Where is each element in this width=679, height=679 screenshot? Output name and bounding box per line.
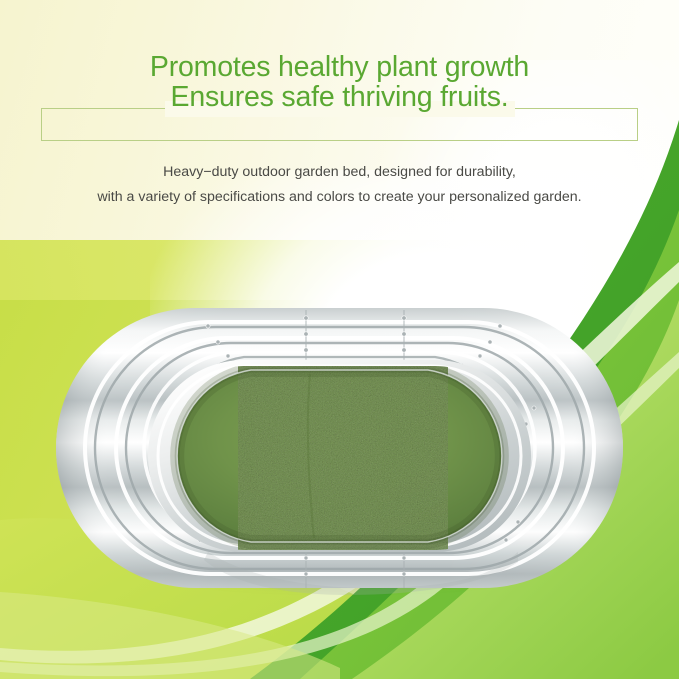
headline-line-2: Ensures safe thriving fruits. xyxy=(0,82,679,112)
headline-line-1: Promotes healthy plant growth xyxy=(0,52,679,82)
product-image xyxy=(48,300,631,595)
garden-bed-illustration xyxy=(48,300,631,595)
subtitle-line-1: Heavy−duty outdoor garden bed, designed … xyxy=(0,160,679,185)
subtitle: Heavy−duty outdoor garden bed, designed … xyxy=(0,160,679,210)
page-title: Promotes healthy plant growth Ensures sa… xyxy=(0,52,679,112)
subtitle-line-2: with a variety of specifications and col… xyxy=(0,185,679,210)
banner-stage: Promotes healthy plant growth Ensures sa… xyxy=(0,0,679,679)
soil-fill xyxy=(177,358,502,558)
